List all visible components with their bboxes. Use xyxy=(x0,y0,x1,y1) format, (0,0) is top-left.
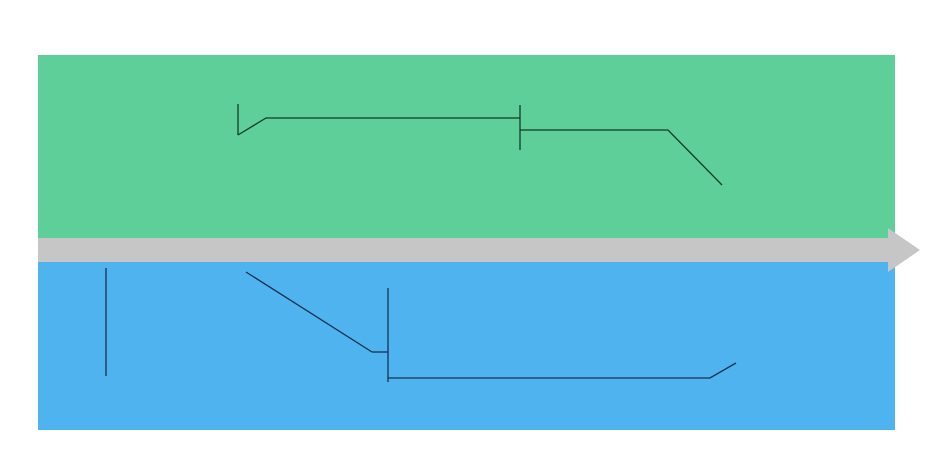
timeline-arrow-icon xyxy=(888,228,920,272)
on-premises-band xyxy=(38,55,895,238)
cloud-services-band xyxy=(38,262,895,430)
timeline-band xyxy=(38,238,895,262)
diagram-canvas xyxy=(0,0,926,467)
